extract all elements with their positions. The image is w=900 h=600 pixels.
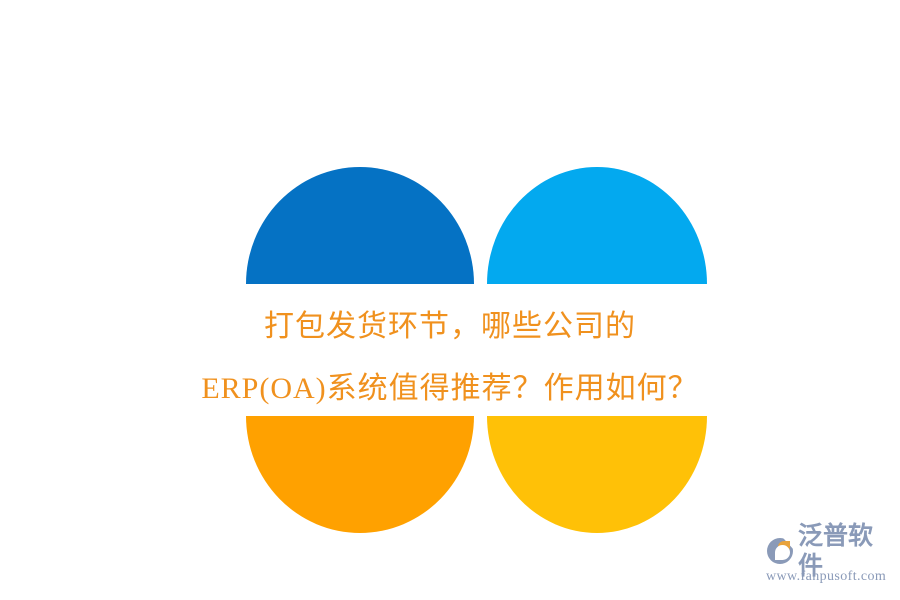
light-blue-petal-icon — [487, 167, 707, 284]
headline-line-1: 打包发货环节，哪些公司的 — [0, 296, 900, 358]
watermark: 泛普软件 www.fanpusoft.com — [766, 534, 894, 590]
headline-line-2: ERP(OA)系统值得推荐？作用如何？ — [0, 358, 900, 420]
headline: 打包发货环节，哪些公司的 ERP(OA)系统值得推荐？作用如何？ — [0, 296, 900, 420]
logo-inner-shape — [775, 545, 790, 560]
watermark-url: www.fanpusoft.com — [766, 569, 894, 585]
fanpu-logo-icon — [766, 536, 796, 566]
watermark-brand-row: 泛普软件 — [766, 534, 894, 568]
image-canvas: 打包发货环节，哪些公司的 ERP(OA)系统值得推荐？作用如何？ 泛普软件 ww… — [0, 0, 900, 600]
orange-petal-icon — [246, 416, 474, 533]
yellow-petal-icon — [487, 416, 707, 533]
dark-blue-petal-icon — [246, 167, 474, 284]
